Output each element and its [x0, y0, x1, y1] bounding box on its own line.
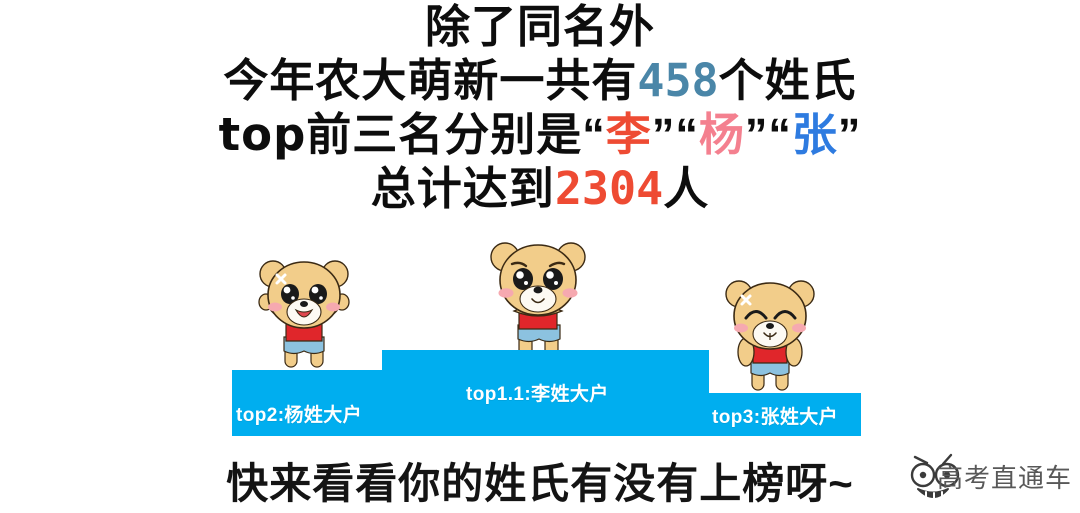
- mascot-bear-right: [718, 276, 822, 396]
- podium-area: top2:杨姓大户 top1.1:李姓大户 top3:张姓大户: [0, 232, 1080, 442]
- headline-line-2-suffix: 个姓氏: [719, 55, 857, 106]
- podium-label-top3: top3:张姓大户: [712, 402, 838, 429]
- headline-block: 除了同名外 今年农大萌新一共有458个姓氏 top前三名分别是“李”“杨”“张”…: [0, 4, 1080, 211]
- podium-label-top2: top2:杨姓大户: [236, 400, 362, 427]
- freshman-surname-count: 458: [637, 54, 718, 107]
- headline-line-4-suffix: 人: [663, 163, 709, 214]
- podium-label-top1: top1.1:李姓大户: [466, 379, 609, 406]
- quote-close-2: ”: [745, 109, 769, 160]
- top-surname-1: 李: [606, 109, 652, 160]
- poster-canvas: 除了同名外 今年农大萌新一共有458个姓氏 top前三名分别是“李”“杨”“张”…: [0, 0, 1080, 513]
- headline-line-1: 除了同名外: [0, 4, 1080, 49]
- mascot-bear-left: [252, 257, 356, 375]
- headline-line-4: 总计达到2304人: [0, 166, 1080, 211]
- headline-line-3-prefix: top前三名分别是: [219, 108, 583, 161]
- headline-line-3: top前三名分别是“李”“杨”“张”: [0, 112, 1080, 157]
- top-three-total-count: 2304: [555, 162, 663, 215]
- top-surname-3: 张: [792, 109, 838, 160]
- watermark: 高考直通车: [907, 449, 1072, 507]
- top-surname-2: 杨: [699, 109, 745, 160]
- quote-open-3: “: [768, 109, 792, 160]
- headline-line-1-text: 除了同名外: [425, 1, 655, 52]
- mascot-bear-center: [482, 239, 594, 365]
- watermark-label: 高考直通车: [937, 458, 1072, 499]
- quote-close-3: ”: [838, 109, 862, 160]
- quote-open-2: “: [675, 109, 699, 160]
- quote-open-1: “: [582, 109, 606, 160]
- headline-line-2: 今年农大萌新一共有458个姓氏: [0, 58, 1080, 103]
- headline-line-2-prefix: 今年农大萌新一共有: [223, 55, 637, 106]
- quote-close-1: ”: [652, 109, 676, 160]
- headline-line-4-prefix: 总计达到: [371, 163, 555, 214]
